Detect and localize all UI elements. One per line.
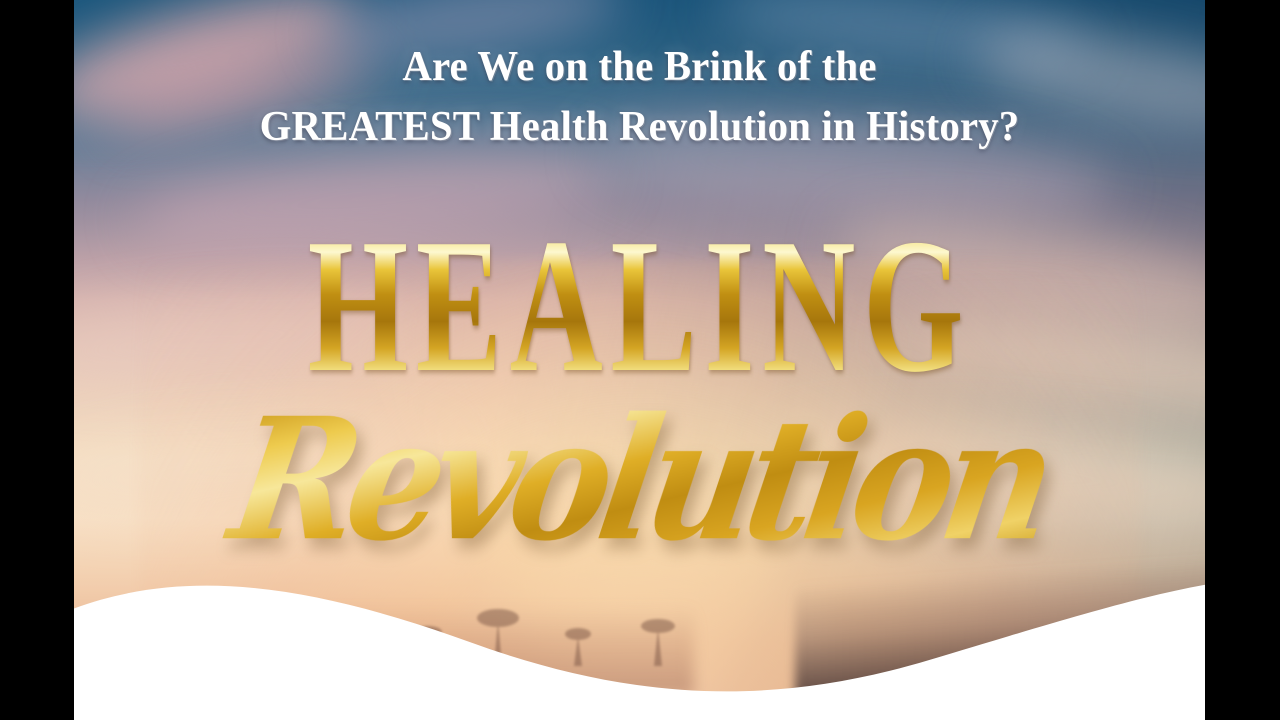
logo-word-revolution: Revolution [74,396,1205,564]
slide-headline: Are We on the Brink of the GREATEST Heal… [91,38,1188,157]
letterbox-bar-right [1205,0,1280,720]
video-slide-stage: Are We on the Brink of the GREATEST Heal… [0,0,1280,720]
slide-canvas: Are We on the Brink of the GREATEST Heal… [74,0,1205,720]
letterbox-bar-left [0,0,74,720]
headline-line-1: Are We on the Brink of the [91,38,1188,98]
headline-line-2: GREATEST Health Revolution in History? [91,98,1188,158]
logo-word-healing: HEALING [153,210,1126,402]
